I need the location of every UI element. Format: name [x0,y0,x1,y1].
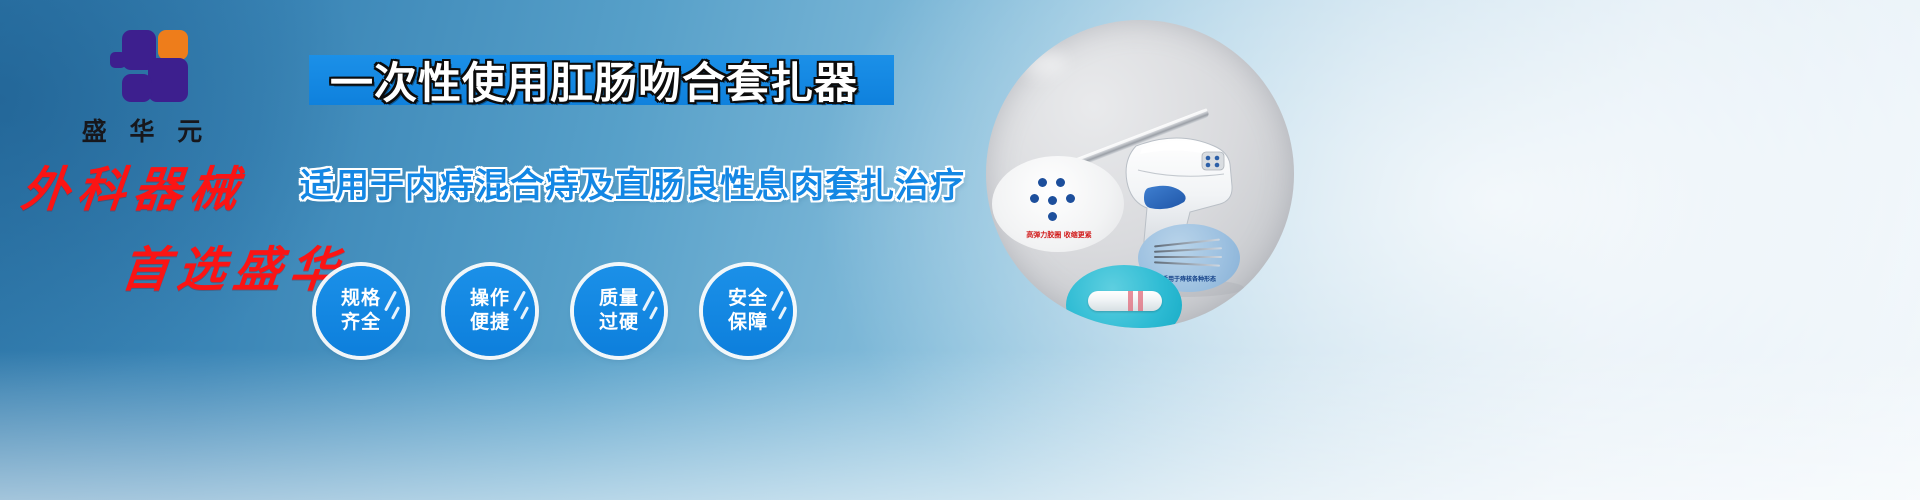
slogan-line-1: 外科器械 [18,150,249,220]
logo-block-orange [158,30,188,60]
badge-label-line1: 操作 [470,287,510,311]
slash-accent-icon [520,306,529,320]
company-logo-icon [96,28,188,106]
product-photo[interactable]: 高弹力胶圈 收缩更紧 适用于痔核各种形态 [986,20,1294,328]
slash-accent-icon [649,306,658,320]
feature-badge-2[interactable]: 操作 便捷 [445,266,535,356]
subtitle: 适用于内痔混合痔及直肠良性息肉套扎治疗 [300,158,920,207]
needle [1154,239,1220,248]
band-dot [1038,178,1047,187]
needle [1154,261,1220,266]
badge-label-line1: 规格 [341,287,381,311]
slash-accent-icon [778,306,787,320]
logo-block-purple-2 [148,58,188,102]
band-dot [1066,194,1075,203]
tube-band [1138,291,1143,311]
page-title: 一次性使用肛肠吻合套扎器 [330,51,890,109]
promo-banner: 盛 华 元 外科器械 首选盛华 一次性使用肛肠吻合套扎器 适用于内痔混合痔及直肠… [0,0,1920,500]
photo-highlight [1020,50,1066,76]
slogan-line-2: 首选盛华 [118,230,349,300]
slash-accent-icon [391,306,400,320]
slogan-calligraphy: 外科器械 首选盛华 [22,150,346,300]
feature-badge-1[interactable]: 规格 齐全 [316,266,406,356]
inset-caption-1: 高弹力胶圈 收缩更紧 [1000,230,1118,240]
badge-label-line2: 便捷 [470,311,510,335]
tube-graphic [1088,291,1162,311]
band-dot [1048,196,1057,205]
feature-badge-3[interactable]: 质量 过硬 [574,266,664,356]
needle [1154,256,1222,258]
brand-logo[interactable]: 盛 华 元 [62,28,222,148]
inset-photo-rubber-bands: 高弹力胶圈 收缩更紧 [992,156,1124,252]
badge-label-line2: 过硬 [599,311,639,335]
badge-label-line1: 质量 [599,287,639,311]
band-dot [1048,212,1057,221]
badge-label-line2: 保障 [728,311,768,335]
logo-block-purple-3 [122,74,152,102]
band-dot [1030,194,1039,203]
company-name: 盛 华 元 [62,112,222,148]
band-dot [1056,178,1065,187]
badge-label-line1: 安全 [728,287,768,311]
feature-badge-4[interactable]: 安全 保障 [703,266,793,356]
tube-band [1128,291,1133,311]
background-bottom-glow [0,350,1920,500]
badge-label-line2: 齐全 [341,311,381,335]
needle [1154,247,1222,253]
feature-badge-list: 规格 齐全 操作 便捷 质量 过硬 安全 保障 [316,266,793,356]
